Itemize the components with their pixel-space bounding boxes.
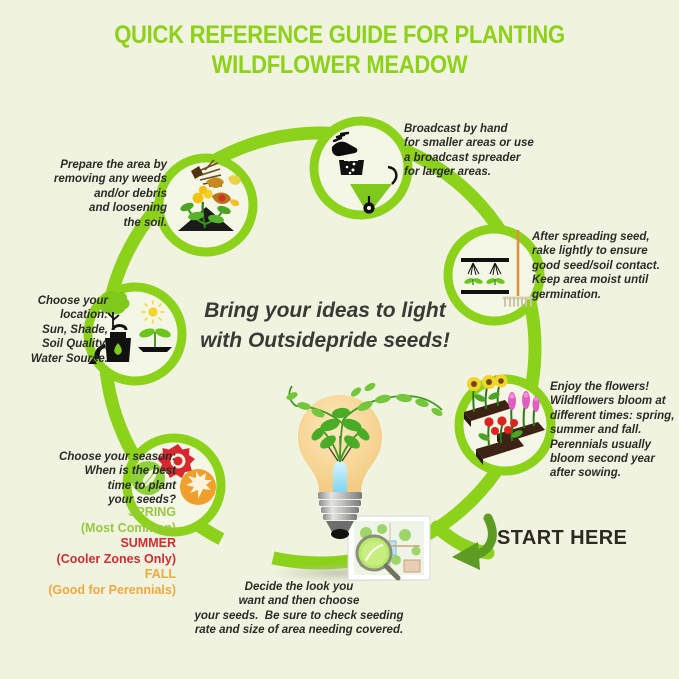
lightbulb-icon [285,381,444,539]
legend-summer-label: SUMMER [0,536,176,552]
legend-fall-note: (Good for Perennials) [0,583,176,599]
infographic-canvas: QUICK REFERENCE GUIDE FOR PLANTING WILDF… [0,0,679,679]
node-prepare-area[interactable] [159,158,253,252]
season-legend: SPRING (Most Common) SUMMER (Cooler Zone… [0,505,176,598]
node-decide-look[interactable] [270,381,444,583]
legend-summer-note: (Cooler Zones Only) [0,552,176,568]
legend-spring-note: (Most Common) [0,521,176,537]
node-broadcast-seed[interactable] [314,121,408,215]
node-enjoy-flowers[interactable] [459,375,551,472]
garden-plan-icon [348,516,430,580]
caption-choose-location: Choose your location: Sun, Shade, Soil Q… [0,294,108,366]
caption-rake-lightly: After spreading seed, rake lightly to en… [532,230,679,302]
tagline: Bring your ideas to light with Outsidepr… [170,296,480,356]
start-here-label: START HERE [497,527,627,550]
caption-prepare-area: Prepare the area by removing any weeds a… [20,158,167,230]
legend-spring-label: SPRING [0,505,176,521]
caption-choose-season: Choose your season: When is the best tim… [0,450,176,508]
caption-enjoy-flowers: Enjoy the flowers! Wildflowers bloom at … [550,380,679,481]
legend-fall-label: FALL [0,567,176,583]
caption-decide-look: Decide the look you want and then choose… [163,580,435,638]
caption-broadcast-seed: Broadcast by hand for smaller areas or u… [404,122,569,180]
